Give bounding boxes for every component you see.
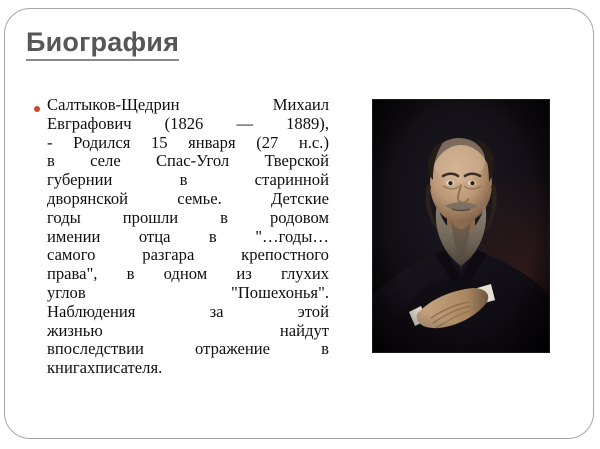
biography-line: впоследствииотражениев: [47, 340, 329, 359]
biography-word: книгах: [47, 359, 95, 378]
biography-word: семье.: [177, 190, 222, 209]
biography-word: Салтыков-Щедрин: [47, 96, 180, 115]
biography-word: января: [188, 134, 235, 153]
biography-word: -: [47, 134, 53, 153]
portrait-illustration: [373, 100, 549, 352]
biography-word: прошли: [123, 209, 178, 228]
biography-word: отца: [139, 228, 171, 247]
biography-word: писателя.: [95, 359, 162, 378]
biography-word: права",: [47, 265, 97, 284]
biography-word: в: [209, 228, 217, 247]
biography-line: дворянскойсемье.Детские: [47, 190, 329, 209]
page-title: Биография: [26, 26, 179, 61]
biography-line: именииотцав"…годы…: [47, 228, 329, 247]
biography-word: (27: [256, 134, 278, 153]
biography-line: вселеСпас-УголТверской: [47, 152, 329, 171]
biography-word: н.с.): [299, 134, 329, 153]
biography-word: в: [180, 171, 188, 190]
biography-word: в: [321, 340, 329, 359]
biography-word: —: [236, 115, 253, 134]
list-item: Салтыков-ЩедринМихаилЕвграфович(1826—188…: [29, 96, 329, 378]
biography-word: самого: [47, 246, 95, 265]
bullet-point-icon: [34, 106, 40, 112]
biography-word: Родился: [73, 134, 130, 153]
biography-word: имении: [47, 228, 100, 247]
biography-line: Наблюдениязаэтой: [47, 303, 329, 322]
biography-line: самогоразгаракрепостного: [47, 246, 329, 265]
biography-line: губерниивстаринной: [47, 171, 329, 190]
biography-word: в: [127, 265, 135, 284]
biography-word: селе: [90, 152, 121, 171]
biography-word: губернии: [47, 171, 112, 190]
biography-word: отражение: [195, 340, 270, 359]
biography-line: Евграфович(1826—1889),: [47, 115, 329, 134]
biography-word: глухих: [281, 265, 329, 284]
biography-word: годы: [47, 209, 81, 228]
biography-line: Салтыков-ЩедринМихаил: [47, 96, 329, 115]
biography-word: (1826: [165, 115, 204, 134]
biography-word: "…годы…: [255, 228, 329, 247]
biography-word: Михаил: [273, 96, 329, 115]
biography-word: дворянской: [47, 190, 128, 209]
biography-word: из: [236, 265, 251, 284]
biography-word: разгара: [142, 246, 194, 265]
biography-word: крепостного: [241, 246, 329, 265]
biography-word: Тверской: [264, 152, 328, 171]
biography-word: в: [47, 152, 55, 171]
biography-line: годыпрошливродовом: [47, 209, 329, 228]
biography-line: углов"Пошехонья".: [47, 284, 329, 303]
biography-word: старинной: [255, 171, 329, 190]
biography-word: за: [210, 303, 224, 322]
biography-line: права",водномизглухих: [47, 265, 329, 284]
biography-line: жизньюнайдут: [47, 322, 329, 341]
biography-word: в: [220, 209, 228, 228]
biography-word: Детские: [271, 190, 329, 209]
slide: Биография Салтыков-ЩедринМихаилЕвграфови…: [0, 0, 600, 449]
page-title-container: Биография: [26, 26, 446, 66]
biography-paragraph: Салтыков-ЩедринМихаилЕвграфович(1826—188…: [29, 96, 329, 378]
biography-word: найдут: [280, 322, 329, 341]
biography-word: родовом: [270, 209, 329, 228]
biography-word: одном: [164, 265, 208, 284]
portrait-image: [373, 100, 549, 352]
biography-word: впоследствии: [47, 340, 144, 359]
biography-word: жизнью: [47, 322, 103, 341]
biography-word: 1889),: [286, 115, 329, 134]
biography-line: -Родился15января(27н.с.): [47, 134, 329, 153]
biography-word: углов: [47, 284, 86, 303]
biography-line: книгах писателя.: [47, 359, 329, 378]
biography-word: 15: [151, 134, 168, 153]
biography-word: Спас-Угол: [156, 152, 229, 171]
biography-word: "Пошехонья".: [231, 284, 329, 303]
biography-word: Евграфович: [47, 115, 132, 134]
biography-word: Наблюдения: [47, 303, 135, 322]
biography-word: этой: [298, 303, 329, 322]
content-body: Салтыков-ЩедринМихаилЕвграфович(1826—188…: [29, 96, 329, 396]
